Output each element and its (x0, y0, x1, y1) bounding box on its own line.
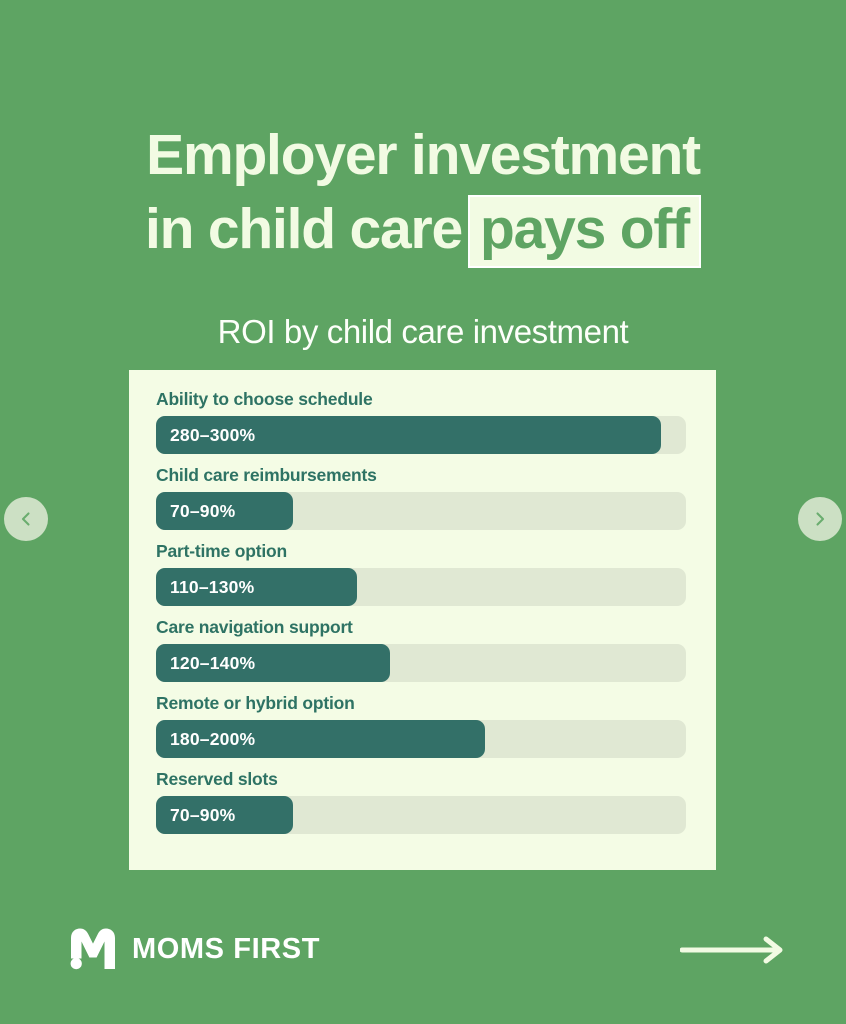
bar-track: 120–140% (156, 644, 686, 682)
bar-track: 280–300% (156, 416, 686, 454)
bar-value-label: 180–200% (156, 729, 255, 750)
roi-bar-chart: Ability to choose schedule280–300%Child … (129, 370, 716, 870)
bar-row: Reserved slots70–90% (156, 768, 690, 834)
moms-first-m-logo-icon (68, 928, 118, 970)
headline-line-2-prefix: in child care (145, 197, 462, 261)
bar-fill: 280–300% (156, 416, 661, 454)
headline-highlight: pays off (468, 195, 701, 268)
bar-value-label: 280–300% (156, 425, 255, 446)
bar-fill: 70–90% (156, 796, 293, 834)
bar-value-label: 70–90% (156, 805, 235, 826)
bar-fill: 110–130% (156, 568, 357, 606)
carousel-next-button[interactable] (798, 497, 842, 541)
bar-value-label: 120–140% (156, 653, 255, 674)
bar-track: 110–130% (156, 568, 686, 606)
bar-fill: 70–90% (156, 492, 293, 530)
bar-category-label: Child care reimbursements (156, 464, 690, 486)
bar-value-label: 110–130% (156, 577, 254, 598)
bar-category-label: Remote or hybrid option (156, 692, 690, 714)
headline-line-2: in child carepays off (0, 192, 846, 268)
page-title: Employer investment in child carepays of… (0, 118, 846, 268)
chevron-left-icon (17, 510, 35, 528)
bar-fill: 180–200% (156, 720, 485, 758)
bar-row: Remote or hybrid option180–200% (156, 692, 690, 758)
bar-row: Child care reimbursements70–90% (156, 464, 690, 530)
chart-title: ROI by child care investment (0, 313, 846, 351)
bar-category-label: Part-time option (156, 540, 690, 562)
bar-fill: 120–140% (156, 644, 390, 682)
arrow-right-icon (680, 953, 788, 970)
bar-category-label: Care navigation support (156, 616, 690, 638)
bar-track: 180–200% (156, 720, 686, 758)
bar-value-label: 70–90% (156, 501, 235, 522)
swipe-forward-arrow[interactable] (680, 934, 788, 966)
bar-row: Ability to choose schedule280–300% (156, 388, 690, 454)
brand-logo: MOMS FIRST (68, 928, 320, 970)
chevron-right-icon (811, 510, 829, 528)
carousel-prev-button[interactable] (4, 497, 48, 541)
bar-track: 70–90% (156, 492, 686, 530)
bar-row: Care navigation support120–140% (156, 616, 690, 682)
bar-row: Part-time option110–130% (156, 540, 690, 606)
bar-track: 70–90% (156, 796, 686, 834)
headline-line-1: Employer investment (0, 118, 846, 192)
brand-name: MOMS FIRST (132, 933, 320, 966)
bar-category-label: Ability to choose schedule (156, 388, 690, 410)
bar-category-label: Reserved slots (156, 768, 690, 790)
